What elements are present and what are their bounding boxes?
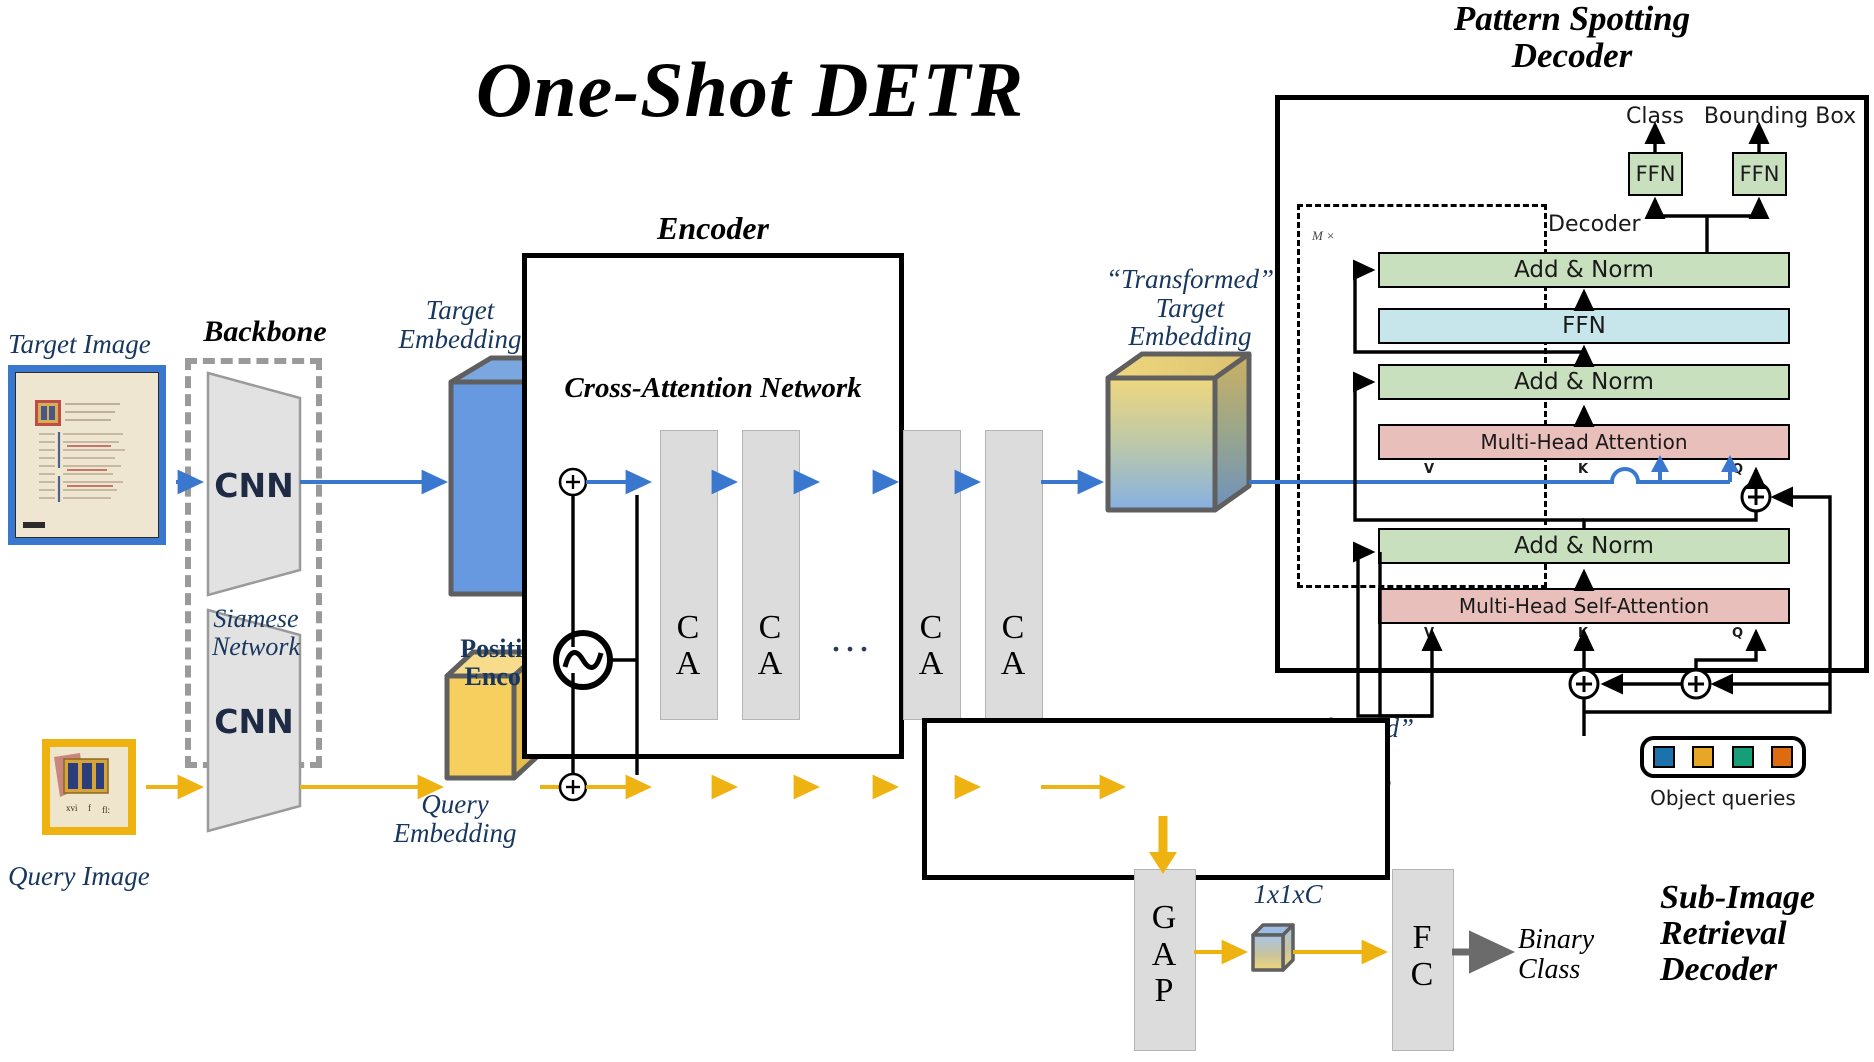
ca-1-c: C — [660, 610, 716, 646]
fc-f: F — [1392, 920, 1452, 957]
add-norm-mid-block[interactable]: Add & Norm — [1378, 364, 1790, 400]
transformed-target-line2: Target — [1085, 294, 1295, 323]
decoder-repeat-label: M × — [1312, 228, 1372, 244]
ca-4-c: C — [985, 610, 1041, 646]
ca-layer-4-label: C A — [985, 610, 1041, 681]
ca-layer-2-label: C A — [742, 610, 798, 681]
object-query-swatch-4[interactable] — [1771, 746, 1793, 768]
object-queries-label: Object queries — [1620, 786, 1826, 810]
mha-v-label: V — [1424, 462, 1434, 477]
psd-title-line1: Pattern Spotting — [1275, 0, 1869, 37]
tensor-1x1xc-cube — [1253, 925, 1293, 970]
encoder-title: Encoder — [522, 210, 904, 247]
svg-text:xvi: xvi — [66, 803, 78, 813]
ffn-bbox-block[interactable]: FFN — [1732, 152, 1787, 196]
ca-layer-1-label: C A — [660, 610, 716, 681]
mhsa-k-label: K — [1578, 626, 1588, 641]
ca-layer-3-label: C A — [903, 610, 959, 681]
query-embedding-line1: Query — [355, 790, 555, 819]
cnn-top-label: CNN — [208, 466, 300, 505]
query-embedding-line2: Embedding — [355, 819, 555, 848]
ca-1-a: A — [660, 646, 716, 682]
add-norm-bottom-block[interactable]: Add & Norm — [1378, 528, 1790, 564]
fc-label: F C — [1392, 920, 1452, 993]
multi-head-attention-block[interactable]: Multi-Head Attention — [1378, 424, 1790, 460]
fc-c: C — [1392, 957, 1452, 994]
mhsa-q-label: Q — [1732, 626, 1743, 641]
cnn-bottom-label: CNN — [208, 702, 300, 741]
ca-3-c: C — [903, 610, 959, 646]
object-query-swatch-1[interactable] — [1653, 746, 1675, 768]
ffn-inner-block[interactable]: FFN — [1378, 308, 1790, 344]
target-image-label: Target Image — [8, 330, 188, 359]
siamese-label-line2: Network — [186, 633, 326, 661]
sub-image-retrieval-decoder-title: Sub-Image Retrieval Decoder — [1660, 880, 1874, 988]
backbone-title: Backbone — [195, 315, 335, 349]
transformed-target-label: “Transformed” Target Embedding — [1085, 265, 1295, 351]
psd-title-line2: Decoder — [1275, 37, 1869, 74]
encoder-ellipsis: ... — [816, 614, 888, 661]
gap-p: P — [1134, 973, 1194, 1010]
multi-head-self-attention-block[interactable]: Multi-Head Self-Attention — [1378, 588, 1790, 624]
sird-title-line1: Sub-Image — [1660, 880, 1874, 916]
gap-a: A — [1134, 937, 1194, 974]
decoder-label: Decoder — [1548, 212, 1688, 237]
binary-class-line2: Class — [1518, 955, 1648, 985]
ca-3-a: A — [903, 646, 959, 682]
binary-class-line1: Binary — [1518, 925, 1648, 955]
mhsa-v-label: V — [1424, 626, 1434, 641]
sub-image-retrieval-decoder-box — [922, 718, 1390, 880]
ffn-class-block[interactable]: FFN — [1628, 152, 1683, 196]
mha-k-label: K — [1578, 462, 1588, 477]
query-image: xviffl: — [42, 739, 136, 835]
transformed-target-embedding-cube — [1108, 354, 1249, 510]
object-query-swatch-3[interactable] — [1732, 746, 1754, 768]
gap-g: G — [1134, 900, 1194, 937]
query-image-label: Query Image — [8, 862, 198, 891]
target-image — [8, 365, 166, 545]
pattern-spotting-decoder-title: Pattern Spotting Decoder — [1275, 0, 1869, 74]
transformed-target-line3: Embedding — [1085, 322, 1295, 351]
svg-text:fl:: fl: — [102, 805, 110, 815]
bounding-box-output-label: Bounding Box — [1690, 104, 1870, 129]
siamese-label: Siamese Network — [186, 605, 326, 660]
mha-q-label: Q — [1732, 462, 1743, 477]
siamese-label-line1: Siamese — [186, 605, 326, 633]
tensor-size-label: 1x1xC — [1228, 880, 1348, 909]
add-norm-top-block[interactable]: Add & Norm — [1378, 252, 1790, 288]
query-embedding-label: Query Embedding — [355, 790, 555, 847]
binary-class-label: Binary Class — [1518, 925, 1648, 984]
ca-2-a: A — [742, 646, 798, 682]
object-query-swatch-2[interactable] — [1692, 746, 1714, 768]
encoder-subtitle: Cross-Attention Network — [522, 372, 904, 405]
svg-text:f: f — [88, 803, 91, 813]
ca-4-a: A — [985, 646, 1041, 682]
sird-title-line2: Retrieval — [1660, 916, 1874, 952]
transformed-target-line1: “Transformed” — [1085, 265, 1295, 294]
gap-label: G A P — [1134, 900, 1194, 1010]
object-queries-pill[interactable] — [1640, 736, 1806, 778]
sird-title-line3: Decoder — [1660, 952, 1874, 988]
ca-2-c: C — [742, 610, 798, 646]
